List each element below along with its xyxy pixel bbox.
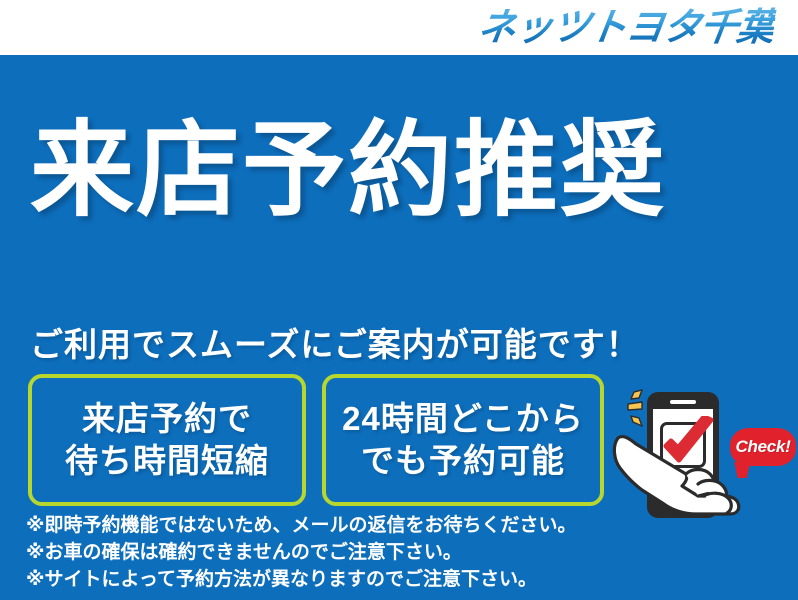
feature-box-24h-line-2: でも予約可能 [361,440,565,482]
netz-toyota-chiba-logo: ネッツトヨタ千葉 [478,5,774,51]
footnotes: ※即時予約機能ではないため、メールの返信をお待ちください。 ※お車の確保は確約で… [26,512,626,593]
phone-speaker-icon [670,400,696,404]
pointing-hand-icon [612,434,742,518]
reservation-banner: ネッツトヨタ千葉 来店予約推奨 ご利用でスムーズにご案内が可能です！ 来店予約で… [0,0,798,600]
feature-box-wait-time-line-2: 待ち時間短縮 [65,440,269,482]
brand-logo-text: ネッツトヨタ千葉 [475,5,777,51]
feature-box-24h: 24時間どこから でも予約可能 [322,374,604,506]
feature-box-wait-time-line-1: 来店予約で [82,398,252,440]
feature-box-24h-line-1: 24時間どこから [342,398,584,440]
feature-box-wait-time: 来店予約で 待ち時間短縮 [28,374,306,506]
footnote-line-1: ※即時予約機能ではないため、メールの返信をお待ちください。 [26,512,626,539]
banner-header: ネッツトヨタ千葉 [0,0,798,58]
status-badge: Check! [730,428,796,466]
hand-holding-smartphone-illustration: Check! [612,386,798,518]
page-title: 来店予約推奨 [30,118,770,224]
motion-lines-icon [612,388,646,432]
header-divider [0,55,798,58]
footnote-line-2: ※お車の確保は確約できませんのでご注意下さい。 [26,539,626,566]
subtitle: ご利用でスムーズにご案内が可能です！ [30,318,640,366]
speech-bubble-label: Check! [736,437,791,457]
footnote-line-3: ※サイトによって予約方法が異なりますのでご注意下さい。 [26,566,626,593]
